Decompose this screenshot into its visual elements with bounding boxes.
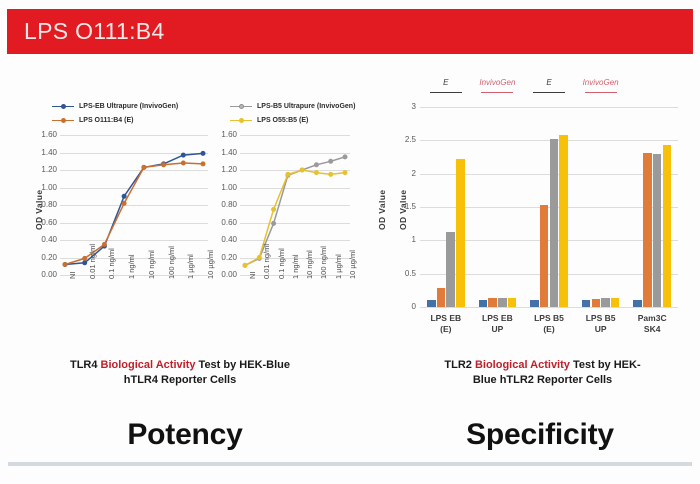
data-point [122, 194, 126, 198]
legend-marker-line-yellow [230, 116, 252, 124]
bar [653, 154, 662, 307]
x-axis-tick-line: (E) [543, 324, 554, 334]
y-axis-title: OD Value [398, 170, 408, 230]
series-line-1 [65, 163, 203, 265]
y-axis-tick: 0.20 [31, 253, 57, 262]
data-point [314, 170, 318, 174]
x-axis-tick-line: LPS B5 [534, 313, 564, 323]
x-axis-tick: 10 µg/ml [348, 250, 357, 279]
bar [456, 159, 465, 307]
y-axis-tick: 1.5 [394, 202, 416, 211]
data-point [142, 165, 146, 169]
data-point [300, 168, 304, 172]
data-point [271, 207, 275, 211]
chart-panel-tlr4-eb: LPS-EB Ultrapure (InvivoGen) LPS O111:B4… [28, 100, 213, 350]
caption-right: TLR2 Biological Activity Test by HEK- Bl… [400, 358, 685, 388]
x-axis-tick: 1 ng/ml [291, 254, 300, 279]
bar [592, 299, 601, 307]
y-axis-tick: 0.80 [211, 200, 237, 209]
legend-item-lps-o111b4: LPS O111:B4 (E) [52, 116, 133, 124]
bar [540, 205, 549, 307]
caption-right-line2: Blue hTLR2 Reporter Cells [473, 374, 612, 386]
group-header-rule [481, 92, 513, 93]
x-axis-tick-line: (E) [440, 324, 451, 334]
x-axis-tick: NI [68, 272, 77, 280]
y-axis-tick: 0.5 [394, 269, 416, 278]
y-axis-tick: 1.20 [31, 165, 57, 174]
data-point [201, 151, 205, 155]
bar-series-group [420, 107, 678, 307]
bar [446, 232, 455, 307]
legend-marker-line-gray [230, 102, 252, 110]
x-axis-tick-line: LPS B5 [586, 313, 616, 323]
caption-right-pre: TLR2 [444, 359, 475, 371]
bar [479, 300, 488, 307]
legend-marker-line-blue [52, 102, 74, 110]
y-axis-tick: 0 [394, 302, 416, 311]
data-point [102, 242, 106, 246]
bar [488, 298, 497, 307]
x-axis-tick: Pam3CSK4 [626, 313, 678, 335]
legend-item-lps-eb-ultrapure: LPS-EB Ultrapure (InvivoGen) [52, 102, 178, 110]
data-point [83, 256, 87, 260]
x-axis-tick-line: UP [595, 324, 607, 334]
y-axis-tick: 1.60 [31, 130, 57, 139]
bar [550, 139, 559, 307]
x-axis-tick-line: Pam3C [638, 313, 667, 323]
x-axis-tick: 10 ng/ml [147, 250, 156, 279]
gridline [420, 307, 678, 308]
summary-label-specificity: Specificity [415, 418, 665, 452]
bar [530, 300, 539, 307]
y-axis-tick: 1.00 [211, 183, 237, 192]
bar [633, 300, 642, 307]
x-axis-tick: 1 µg/ml [186, 254, 195, 279]
data-point [243, 263, 247, 267]
y-axis-tick: 0.40 [31, 235, 57, 244]
slide-header-banner: LPS O111:B4 [7, 9, 693, 54]
y-axis-tick: 0.60 [31, 218, 57, 227]
bar [437, 288, 446, 307]
bar [508, 298, 517, 307]
legend-label: LPS O111:B4 (E) [79, 117, 133, 124]
x-axis-tick: 1 µg/ml [334, 254, 343, 279]
caption-left-pre: TLR4 [70, 359, 101, 371]
caption-left: TLR4 Biological Activity Test by HEK-Blu… [35, 358, 325, 388]
group-header-label: InvivoGen [571, 78, 631, 87]
x-axis-tick: LPS B5(E) [523, 313, 575, 335]
y-axis-tick: 0.20 [211, 253, 237, 262]
data-point [271, 221, 275, 225]
caption-left-post: Test by HEK-Blue [195, 359, 290, 371]
group-header-rule [585, 92, 617, 93]
x-axis-tick: LPS EB(E) [420, 313, 472, 335]
y-axis-tick: 0.00 [211, 270, 237, 279]
bar [498, 298, 507, 307]
bar [601, 298, 610, 307]
x-axis-tick-line: SK4 [644, 324, 661, 334]
bar [427, 300, 436, 307]
y-axis-title: OD Value [377, 170, 387, 230]
data-point [329, 159, 333, 163]
y-axis-tick: 0.60 [211, 218, 237, 227]
x-axis-tick-line: UP [491, 324, 503, 334]
x-axis-tick: 100 ng/ml [167, 246, 176, 279]
y-axis-tick: 1.20 [211, 165, 237, 174]
y-axis-tick: 1.00 [31, 183, 57, 192]
group-header-rule [430, 92, 462, 93]
y-axis-tick: 1.60 [211, 130, 237, 139]
data-point [63, 262, 67, 266]
bar [643, 153, 652, 307]
y-axis-tick: 1.40 [211, 148, 237, 157]
caption-left-line2: hTLR4 Reporter Cells [124, 374, 236, 386]
x-axis-tick-line: LPS EB [430, 313, 461, 323]
x-axis-tick: 100 ng/ml [319, 246, 328, 279]
data-point [329, 172, 333, 176]
y-axis-tick: 2 [394, 169, 416, 178]
y-axis-tick: 1.40 [31, 148, 57, 157]
y-axis-tick: 1 [394, 235, 416, 244]
x-axis-tick-line: LPS EB [482, 313, 513, 323]
data-point [83, 261, 87, 265]
bar [582, 300, 591, 307]
legend-label: LPS-B5 Ultrapure (InvivoGen) [257, 103, 355, 110]
x-axis-tick: 0.01 ng/ml [262, 244, 271, 279]
chart-panel-tlr4-b5: LPS-B5 Ultrapure (InvivoGen) LPS O55:B5 … [208, 100, 398, 350]
series-line-1 [245, 170, 345, 265]
legend-item-lps-o55b5: LPS O55:B5 (E) [230, 116, 308, 124]
x-axis-tick: 0.1 ng/ml [277, 248, 286, 279]
caption-right-post: Test by HEK- [570, 359, 641, 371]
data-point [314, 163, 318, 167]
x-axis-tick: NI [248, 272, 257, 280]
group-header-rule [533, 92, 565, 93]
bar [611, 298, 620, 307]
caption-right-highlight: Biological Activity [475, 359, 570, 371]
data-point [181, 153, 185, 157]
y-axis-tick: 0.00 [31, 270, 57, 279]
data-point [181, 161, 185, 165]
y-axis-tick: 0.80 [31, 200, 57, 209]
x-axis-tick: 0.01 ng/ml [88, 244, 97, 279]
data-point [122, 201, 126, 205]
footer-divider [8, 462, 692, 466]
caption-left-highlight: Biological Activity [101, 359, 196, 371]
bar [559, 135, 568, 307]
x-axis-tick: 1 ng/ml [127, 254, 136, 279]
plot-area [420, 107, 678, 307]
x-axis-tick: LPS B5UP [575, 313, 627, 335]
legend-marker-line-orange [52, 116, 74, 124]
data-point [161, 163, 165, 167]
summary-label-potency: Potency [60, 418, 310, 452]
x-axis-tick: LPS EBUP [472, 313, 524, 335]
slide-canvas: LPS O111:B4 LPS-EB Ultrapure (InvivoGen)… [0, 0, 700, 484]
page-title: LPS O111:B4 [24, 18, 165, 45]
bar [663, 145, 672, 307]
y-axis-tick: 3 [394, 102, 416, 111]
x-axis-tick: 10 ng/ml [305, 250, 314, 279]
data-point [343, 155, 347, 159]
legend-label: LPS-EB Ultrapure (InvivoGen) [79, 103, 178, 110]
data-point [201, 162, 205, 166]
legend-item-lps-b5-ultrapure: LPS-B5 Ultrapure (InvivoGen) [230, 102, 355, 110]
y-axis-tick: 2.5 [394, 135, 416, 144]
legend-label: LPS O55:B5 (E) [257, 117, 308, 124]
data-point [286, 172, 290, 176]
chart-panel-tlr2: EInvivoGenEInvivoGen OD Value 00.511.522… [392, 75, 687, 350]
x-axis-tick: 0.1 ng/ml [107, 248, 116, 279]
series-line-0 [65, 153, 203, 264]
y-axis-tick: 0.40 [211, 235, 237, 244]
data-point [343, 170, 347, 174]
data-point [257, 255, 261, 259]
